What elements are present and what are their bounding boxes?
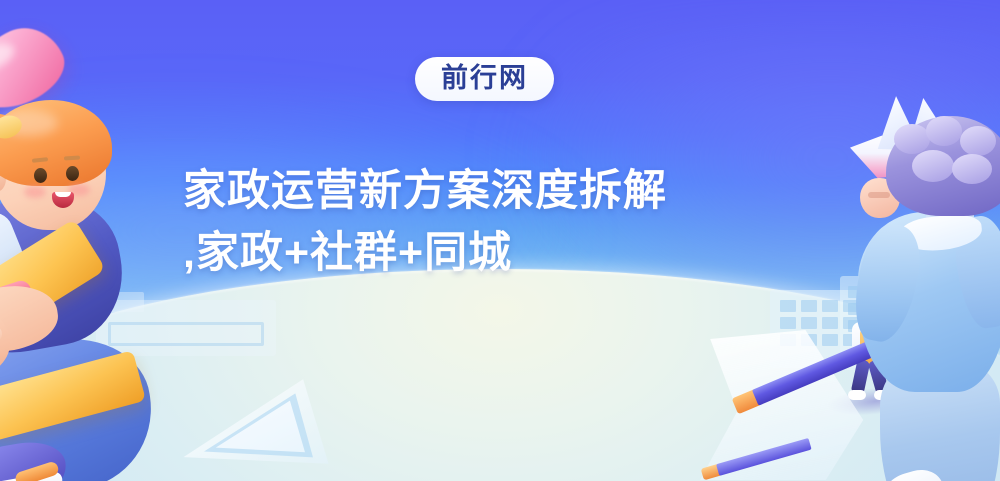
boy-character-illustration (798, 120, 1000, 481)
promo-banner: 前行网 家政运营新方案深度拆解 ,家政+社群+同城 (0, 0, 1000, 481)
girl-character-illustration (0, 92, 242, 481)
site-badge[interactable]: 前行网 (415, 57, 554, 101)
banner-title: 家政运营新方案深度拆解 ,家政+社群+同城 (183, 160, 803, 285)
